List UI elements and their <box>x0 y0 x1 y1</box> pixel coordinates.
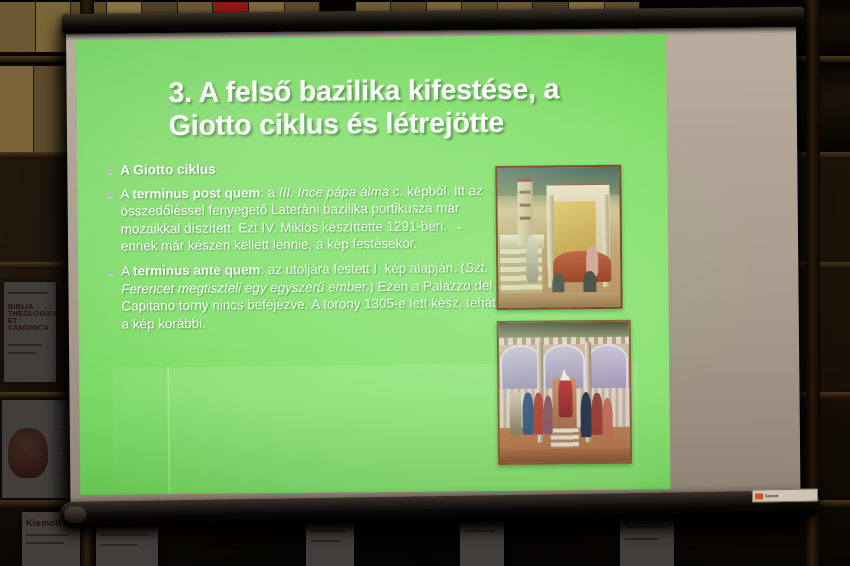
bullet-square-icon <box>108 270 113 275</box>
bullet-lead: A Giotto ciklus <box>120 162 216 178</box>
fresco-dream-of-innocent-iii <box>495 165 622 310</box>
fresco-artwork <box>499 322 630 463</box>
bullet-text: A Giotto ciklus <box>120 161 216 180</box>
poster-title: Kiemelt <box>26 518 61 528</box>
bullet-italic-title: III. Ince pápa álma <box>279 184 389 200</box>
slide-bullet-list: A Giotto ciklus A terminus post quem: a … <box>99 158 501 339</box>
screen-brand-label: Screen <box>752 488 818 502</box>
bullet-square-icon <box>107 169 112 174</box>
poster-theology-book: BIBLIA THEOLOGICA ET CANONICA <box>4 282 56 382</box>
fresco-pope-enthroned <box>497 320 632 465</box>
slide-title: 3. A felső bazilika kifestése, a Giotto … <box>168 73 639 144</box>
screenshot-stage: BIBLIA THEOLOGICA ET CANONICA SZÉPMŰVÉSZ… <box>0 0 850 566</box>
brand-label-text: Screen <box>765 493 778 498</box>
slide-decoration-left <box>112 367 169 495</box>
list-item: A Giotto ciklus <box>99 158 499 180</box>
fresco-artwork <box>497 167 620 308</box>
list-item: A terminus ante quem: az utoljára festet… <box>100 259 501 333</box>
brand-mark-icon <box>755 493 763 499</box>
bullet-after-lead: : az utoljára festett I. kép alapján. ( <box>260 261 465 278</box>
bullet-after-lead: : a <box>260 185 279 200</box>
bullet-prefix: A <box>121 264 133 279</box>
poster-title: BIBLIA THEOLOGICA ET CANONICA <box>8 304 56 332</box>
bullet-square-icon <box>107 192 112 197</box>
bullet-text: A terminus ante quem: az utoljára festet… <box>121 259 501 332</box>
bullet-prefix: A <box>120 186 132 201</box>
bullet-text: A terminus post quem: a III. Ince pápa á… <box>120 182 500 255</box>
shelf-upright <box>806 0 820 566</box>
list-item: A terminus post quem: a III. Ince pápa á… <box>99 182 500 256</box>
bullet-lead: terminus post quem <box>132 185 260 201</box>
presentation-slide: 3. A felső bazilika kifestése, a Giotto … <box>76 34 670 495</box>
bullet-lead: terminus ante quem <box>133 263 260 279</box>
